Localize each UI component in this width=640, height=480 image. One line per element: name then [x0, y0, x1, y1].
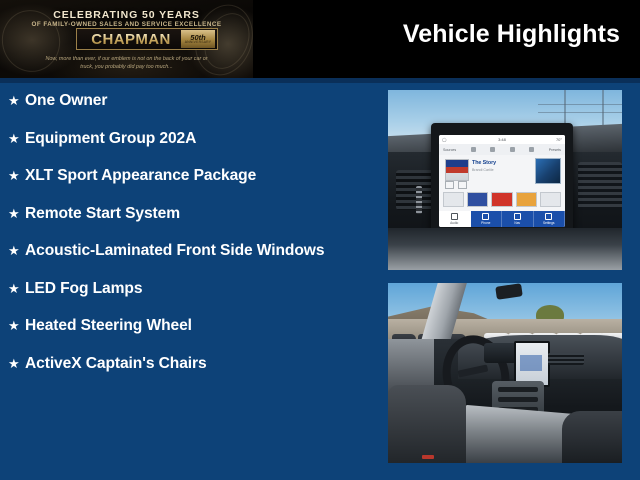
vehicle-highlights-slide: CELEBRATING 50 YEARS OF FAMILY-OWNED SAL… — [0, 0, 640, 480]
highlights-list: ★ One Owner ★ Equipment Group 202A ★ XLT… — [0, 83, 372, 390]
preset-tile — [467, 192, 488, 207]
navigation-icon — [514, 213, 521, 220]
air-vent-right — [548, 353, 584, 365]
next-track-icon — [529, 147, 534, 152]
list-item: ★ Remote Start System — [0, 203, 372, 225]
highlight-label: ActiveX Captain's Chairs — [25, 353, 207, 374]
now-playing-subtitle: Brandi Carlile — [472, 168, 532, 172]
star-icon: ★ — [8, 240, 25, 261]
preset-tile — [491, 192, 512, 207]
nav-settings-label: Settings — [543, 221, 555, 225]
control-row — [498, 397, 538, 402]
highlight-label: Remote Start System — [25, 203, 180, 224]
vehicle-photo-cabin-interior — [388, 283, 622, 463]
control-row — [498, 387, 538, 392]
star-icon: ★ — [8, 165, 25, 186]
list-item: ★ One Owner — [0, 90, 372, 112]
save-icon — [445, 181, 454, 189]
now-playing-info: The Story Brandi Carlile — [472, 160, 532, 172]
power-line — [538, 112, 622, 113]
chapman-logo: CHAPMAN 50th ANNIVERSARY — [76, 28, 218, 50]
dealer-banner-image: CELEBRATING 50 YEARS OF FAMILY-OWNED SAL… — [0, 0, 253, 78]
passenger-seat — [562, 411, 622, 463]
audio-icon — [451, 213, 458, 220]
station-logo-top — [446, 160, 468, 167]
screen-preset-row — [443, 192, 561, 206]
banner-celebrating-text: CELEBRATING 50 YEARS — [0, 9, 253, 21]
presets-label: Presets — [549, 148, 561, 152]
star-icon: ★ — [8, 278, 25, 299]
highlight-label: LED Fog Lamps — [25, 278, 142, 299]
gear-icon — [545, 213, 552, 220]
info-icon — [458, 181, 467, 189]
star-icon: ★ — [8, 203, 25, 224]
star-icon: ★ — [8, 353, 25, 374]
highlight-label: XLT Sport Appearance Package — [25, 165, 256, 186]
list-item: ★ Heated Steering Wheel — [0, 315, 372, 337]
air-vent-right — [578, 162, 622, 210]
nav-phone: Phone — [471, 211, 503, 227]
star-icon: ★ — [8, 90, 25, 111]
nav-settings: Settings — [534, 211, 566, 227]
phone-icon — [482, 213, 489, 220]
lower-dashboard — [388, 228, 622, 270]
preset-tile — [516, 192, 537, 207]
screen-clock: 3:48 — [498, 137, 506, 142]
anniversary-sublabel: ANNIVERSARY — [185, 41, 211, 44]
sources-label: Sources — [443, 148, 456, 152]
star-icon: ★ — [8, 315, 25, 336]
screen-action-icons — [445, 181, 475, 189]
highlight-label: Equipment Group 202A — [25, 128, 196, 149]
banner-tagline-text: Now, more than ever, if our emblem is no… — [0, 55, 253, 71]
infotainment-screen: ◯ 3:48 70° Sources Presets The Story Bra… — [439, 135, 565, 227]
shuffle-icon — [490, 147, 495, 152]
header-band: CELEBRATING 50 YEARS OF FAMILY-OWNED SAL… — [0, 0, 640, 78]
list-item: ★ LED Fog Lamps — [0, 278, 372, 300]
highlight-label: Heated Steering Wheel — [25, 315, 192, 336]
nav-nav-label: Nav — [514, 221, 520, 225]
list-item: ★ Equipment Group 202A — [0, 128, 372, 150]
page-title: Vehicle Highlights — [403, 20, 620, 49]
seat-trim-accent — [422, 455, 434, 459]
vent-control-knobs — [416, 186, 422, 214]
chapman-logo-wordmark: CHAPMAN — [77, 31, 181, 48]
anniversary-badge: 50th ANNIVERSARY — [181, 30, 215, 48]
nav-navigation: Nav — [502, 211, 534, 227]
power-line — [538, 104, 622, 105]
nav-phone-label: Phone — [481, 221, 490, 225]
highlight-label: Acoustic-Laminated Front Side Windows — [25, 240, 324, 261]
preset-tile — [540, 192, 561, 207]
vehicle-photo-center-console: ◯ 3:48 70° Sources Presets The Story Bra… — [388, 90, 622, 270]
search-icon: ◯ — [442, 137, 446, 142]
list-item: ★ Acoustic-Laminated Front Side Windows — [0, 240, 372, 262]
now-playing-title: The Story — [472, 160, 532, 166]
nav-audio: Audio — [439, 211, 471, 227]
screen-temperature: 70° — [556, 137, 562, 142]
plus-icon — [471, 147, 476, 152]
preset-tile — [443, 192, 464, 207]
station-logo-mid — [446, 167, 468, 173]
prev-track-icon — [510, 147, 515, 152]
banner-subtitle-text: OF FAMILY-OWNED SALES AND SERVICE EXCELL… — [0, 21, 253, 28]
screen-source-tabs: Sources Presets — [439, 144, 565, 155]
station-logo — [445, 159, 469, 181]
album-cover-art — [535, 158, 561, 184]
nav-audio-label: Audio — [450, 221, 458, 225]
list-item: ★ XLT Sport Appearance Package — [0, 165, 372, 187]
star-icon: ★ — [8, 128, 25, 149]
highlight-label: One Owner — [25, 90, 107, 111]
screen-nav-bar: Audio Phone Nav Settings — [439, 211, 565, 227]
list-item: ★ ActiveX Captain's Chairs — [0, 353, 372, 375]
driver-seat — [388, 385, 466, 463]
